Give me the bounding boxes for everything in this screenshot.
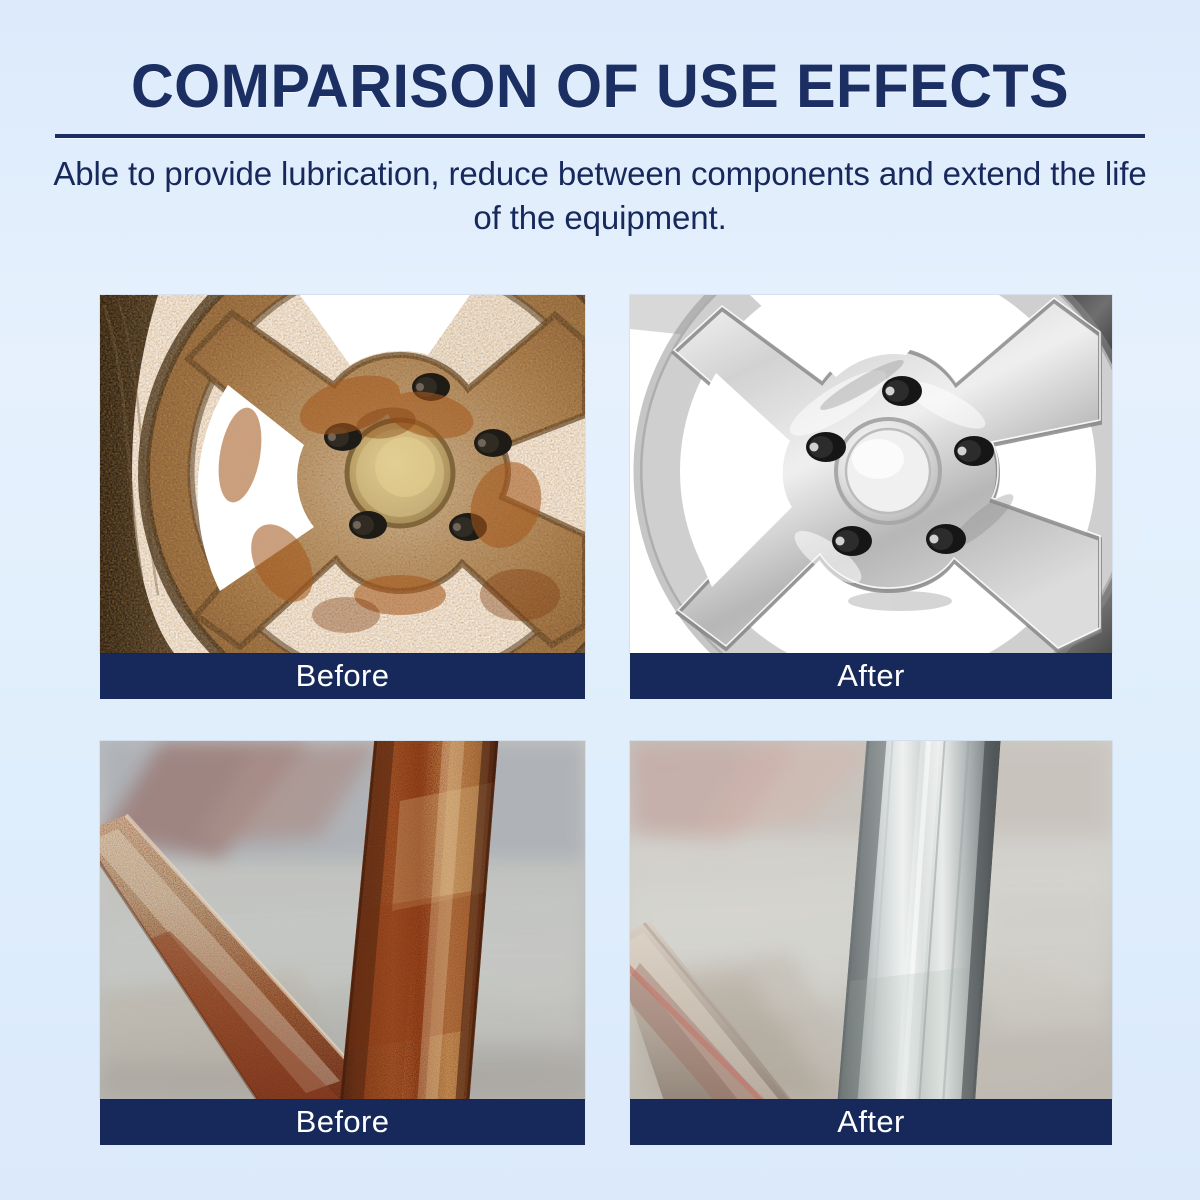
title-divider — [55, 134, 1145, 138]
after-card-wheel: After — [630, 295, 1112, 699]
comparison-row-pipe: Before — [100, 741, 1112, 1145]
page-subtitle: Able to provide lubrication, reduce betw… — [40, 152, 1160, 240]
comparison-grid: Before — [100, 295, 1112, 1145]
header: COMPARISON OF USE EFFECTS Able to provid… — [0, 0, 1200, 240]
rusty-pipe-photo — [100, 741, 585, 1099]
before-card-wheel: Before — [100, 295, 585, 699]
after-label-wheel: After — [630, 653, 1112, 699]
page-title: COMPARISON OF USE EFFECTS — [18, 56, 1182, 117]
after-label-pipe: After — [630, 1099, 1112, 1145]
rusty-wheel-photo — [100, 295, 585, 653]
before-label-wheel: Before — [100, 653, 585, 699]
before-card-pipe: Before — [100, 741, 585, 1145]
clean-pipe-photo — [630, 741, 1112, 1099]
before-label-pipe: Before — [100, 1099, 585, 1145]
clean-wheel-photo — [630, 295, 1112, 653]
after-card-pipe: After — [630, 741, 1112, 1145]
comparison-row-wheel: Before — [100, 295, 1112, 699]
